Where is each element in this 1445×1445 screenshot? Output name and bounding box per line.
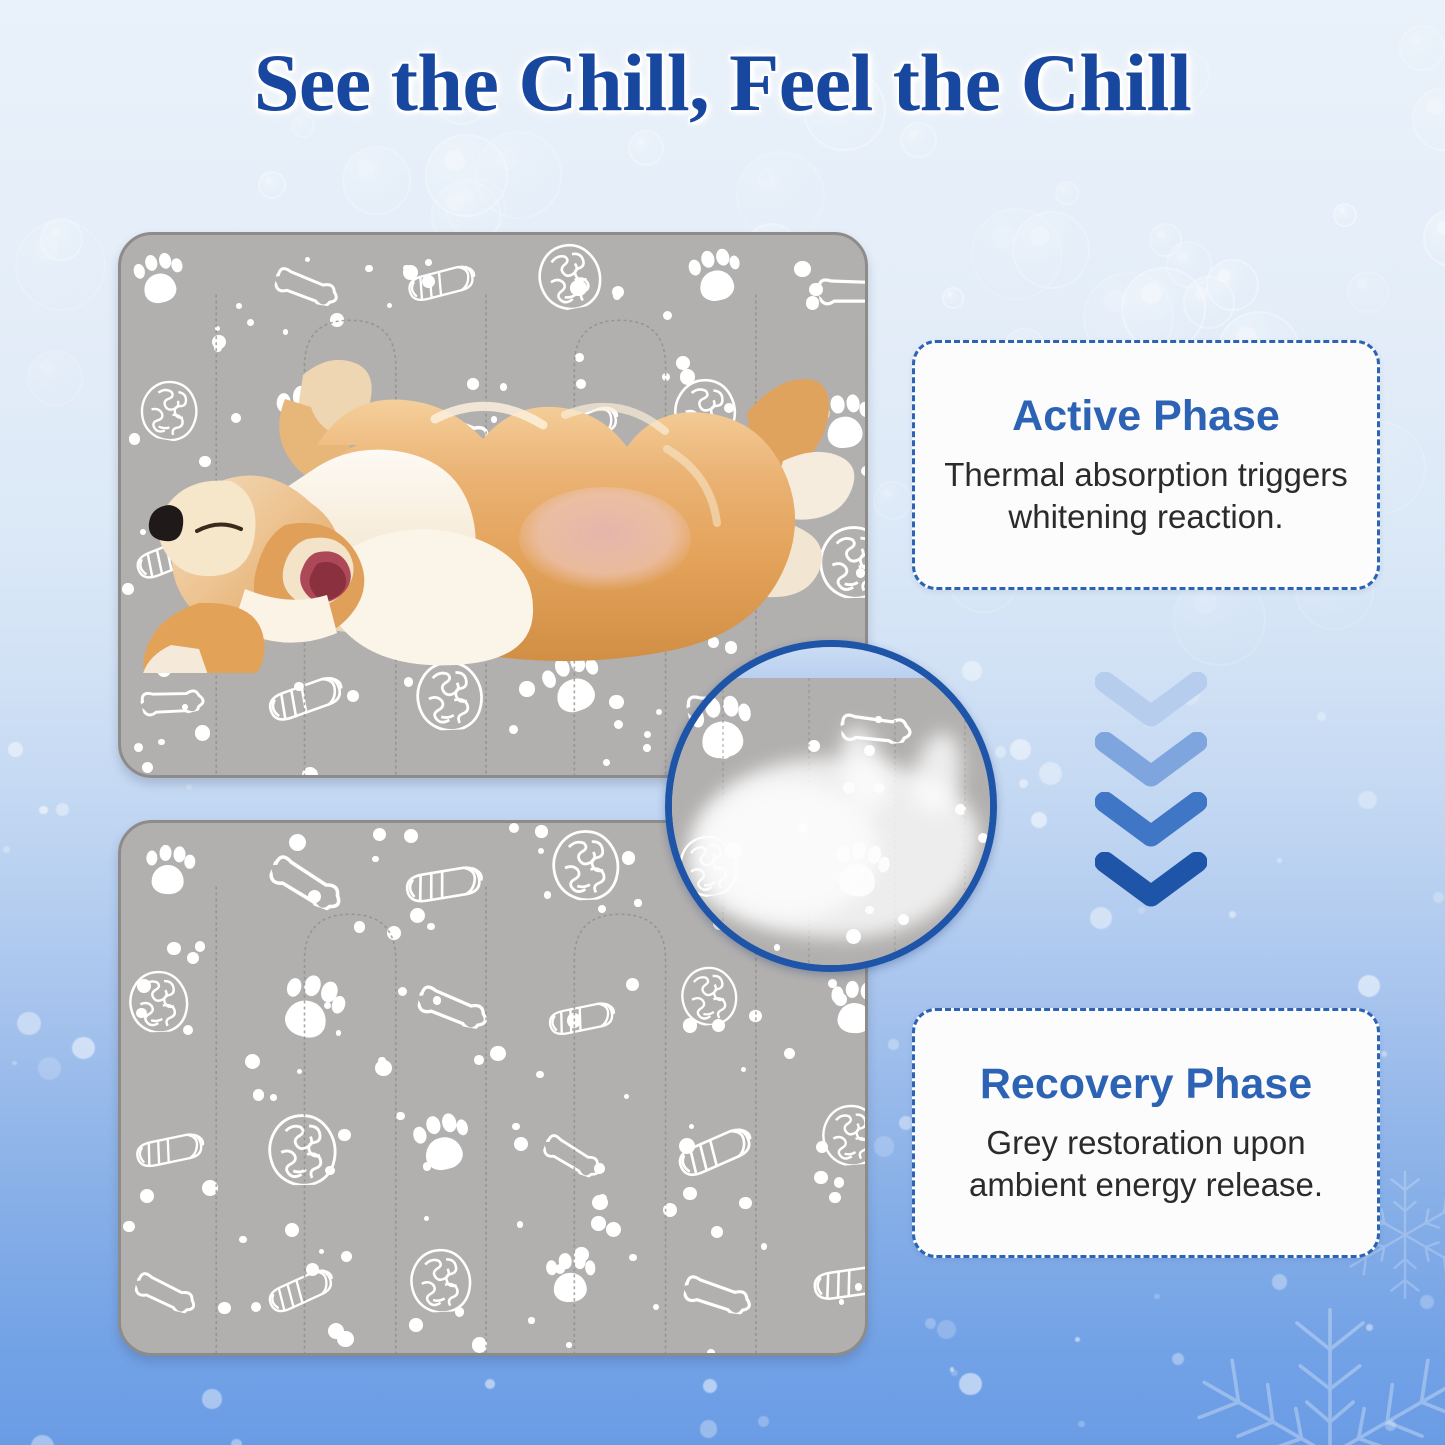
bubble-icon — [425, 134, 508, 217]
sleeping-corgi — [135, 353, 861, 673]
snow-dot — [700, 1420, 718, 1438]
snow-dot — [950, 1367, 954, 1371]
snow-dot — [1075, 1337, 1080, 1342]
chevron-down-icon — [1095, 852, 1207, 908]
snow-dot — [1277, 858, 1282, 863]
snow-dot — [1172, 1353, 1184, 1365]
snow-dot — [39, 806, 47, 814]
bubble-icon — [445, 177, 506, 238]
snowflake-icon — [1165, 1290, 1445, 1445]
bubble-icon — [1423, 209, 1445, 268]
snow-dot — [874, 1136, 894, 1156]
card-recovery-phase-title: Recovery Phase — [980, 1061, 1312, 1108]
snow-dot — [1317, 712, 1326, 721]
bubble-icon — [1206, 259, 1259, 312]
phase-flow-arrows — [1076, 672, 1226, 908]
snow-dot — [1358, 791, 1376, 809]
snow-dot — [703, 1379, 717, 1393]
snow-dot — [202, 1389, 221, 1408]
snow-dot — [56, 803, 69, 816]
bubble-icon — [342, 146, 411, 215]
card-active-phase-body: Thermal absorption triggers whitening re… — [915, 454, 1377, 537]
snow-dot — [1039, 762, 1062, 785]
bubble-icon — [15, 220, 107, 312]
bubble-icon — [475, 131, 562, 218]
snow-dot — [8, 742, 23, 757]
bubble-icon — [1121, 267, 1206, 352]
snow-dot — [1090, 907, 1112, 929]
snow-dot — [17, 1012, 41, 1036]
snow-dot — [31, 1435, 54, 1445]
snow-dot — [1010, 739, 1031, 760]
snow-dot — [12, 1061, 17, 1066]
bubble-icon — [258, 171, 286, 199]
snow-dot — [72, 1037, 94, 1059]
snow-dot — [231, 1439, 241, 1445]
chill-imprint-head — [699, 780, 879, 920]
bubble-icon — [1012, 211, 1090, 289]
bubble-icon — [1166, 241, 1212, 287]
snow-dot — [995, 746, 1007, 758]
chevron-down-icon — [1095, 732, 1207, 788]
snow-dot — [951, 1370, 957, 1376]
chevron-down-icon — [1095, 792, 1207, 848]
bubble-icon — [1149, 223, 1182, 256]
snow-dot — [937, 1320, 956, 1339]
bubble-icon — [1183, 276, 1235, 328]
bubble-icon — [942, 287, 964, 309]
snow-dot — [1229, 911, 1236, 918]
bubble-icon — [736, 151, 825, 240]
bubble-icon — [1333, 203, 1357, 227]
snow-dot — [1031, 812, 1047, 828]
snow-dot — [899, 1116, 913, 1130]
snow-dot — [758, 1416, 769, 1427]
card-active-phase[interactable]: Active Phase Thermal absorption triggers… — [912, 340, 1380, 590]
bubble-icon — [628, 130, 665, 167]
snow-dot — [959, 1373, 981, 1395]
snow-dot — [925, 1318, 936, 1329]
card-recovery-phase[interactable]: Recovery Phase Grey restoration upon amb… — [912, 1008, 1380, 1258]
infographic-canvas: See the Chill, Feel the Chill — [0, 0, 1445, 1445]
bubble-icon — [1347, 271, 1390, 314]
card-active-phase-title: Active Phase — [1012, 393, 1280, 440]
snow-dot — [1385, 1420, 1395, 1430]
cooling-imprint-magnifier[interactable] — [665, 640, 997, 972]
snow-dot — [1272, 1274, 1288, 1290]
snow-dot — [888, 1039, 898, 1049]
snow-dot — [1433, 892, 1444, 903]
snow-dot — [485, 1379, 495, 1389]
page-title: See the Chill, Feel the Chill — [0, 36, 1445, 130]
bubble-icon — [873, 481, 913, 521]
bubble-icon — [40, 218, 83, 261]
snow-dot — [1358, 975, 1380, 997]
card-recovery-phase-body: Grey restoration upon ambient energy rel… — [915, 1122, 1377, 1205]
snow-dot — [1420, 1295, 1434, 1309]
bubble-icon — [1055, 181, 1079, 205]
chevron-down-icon — [1095, 672, 1207, 728]
bubble-icon — [27, 350, 83, 406]
snow-dot — [3, 846, 10, 853]
snow-dot — [186, 784, 192, 790]
snow-dot — [1154, 1294, 1159, 1299]
snow-dot — [1381, 1051, 1387, 1057]
snow-dot — [1078, 1421, 1084, 1427]
bubble-icon — [971, 208, 1062, 299]
snow-dot — [1366, 1324, 1373, 1331]
snow-dot — [38, 1057, 61, 1080]
snow-dot — [1019, 779, 1028, 788]
